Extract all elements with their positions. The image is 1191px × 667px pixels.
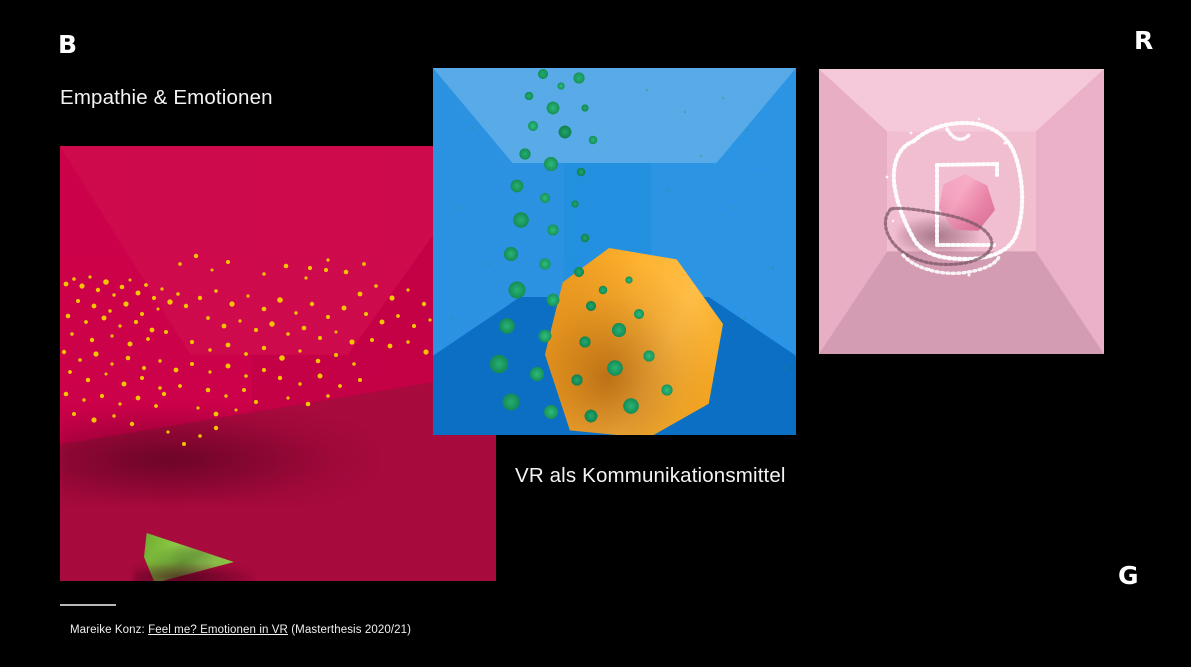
presentation-slide: B R G Empathie & Emotionen [0,0,1191,667]
footnote: Mareike Konz: Feel me? Emotionen in VR (… [70,624,411,636]
crimson-cone-drop-shadow [134,564,254,581]
footnote-title-link[interactable]: Feel me? Emotionen in VR [148,624,288,636]
corner-mark-bottom-right: G [1118,563,1139,588]
caption-vr-als-kommunikationsmittel: VR als Kommunikationsmittel [515,464,786,489]
pink-white-particle-trail [819,69,1104,354]
figure-blue-vr-room [433,68,796,435]
figure-crimson-vr-room [60,146,496,581]
caption-empathie-emotionen: Empathie & Emotionen [60,86,273,111]
footnote-author: Mareike Konz: [70,624,145,636]
footnote-divider [60,604,116,606]
crimson-particle-streaks [60,146,496,581]
corner-mark-top-right: R [1134,28,1154,53]
blue-fine-specks [433,68,796,435]
figure-pink-vr-room [819,69,1104,354]
corner-mark-top-left: B [58,32,78,57]
footnote-suffix: (Masterthesis 2020/21) [291,624,411,636]
